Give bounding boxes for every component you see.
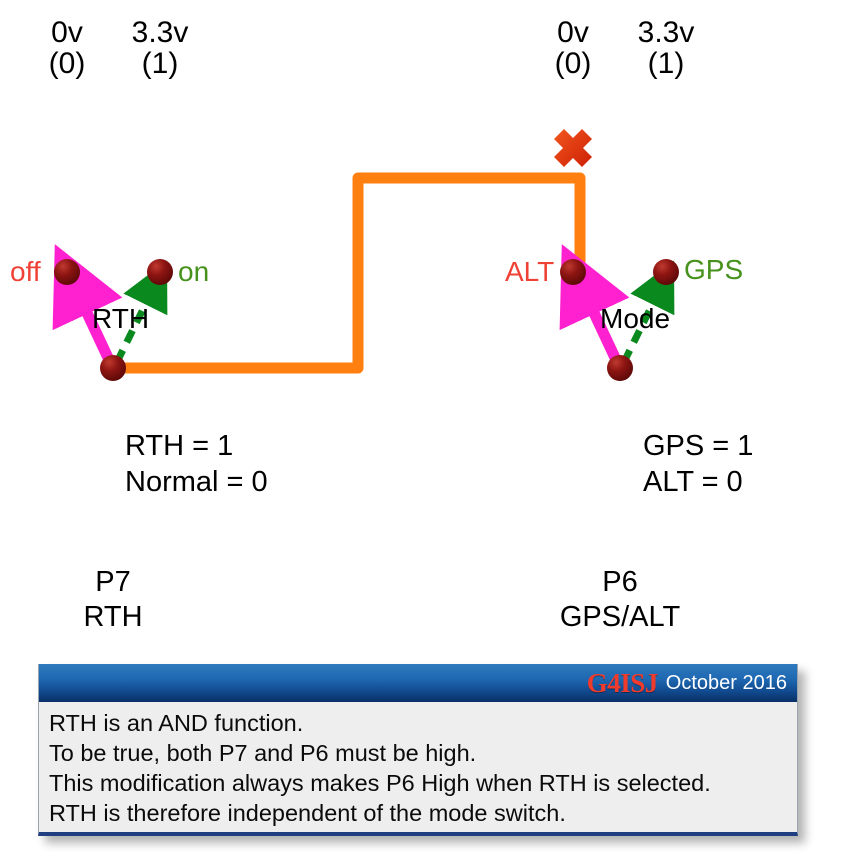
left-off-contact-node[interactable] <box>54 259 80 285</box>
left-on-logic-label: (1) <box>114 47 206 81</box>
left-off-voltage-label: 0v <box>27 16 107 50</box>
right-truth-line-2: ALT = 0 <box>643 466 743 499</box>
caption-body: RTH is an AND function. To be true, both… <box>39 702 797 828</box>
right-gps-contact-node[interactable] <box>653 259 679 285</box>
right-gps-voltage-label: 3.3v <box>620 16 712 50</box>
left-on-voltage-label: 3.3v <box>114 16 206 50</box>
right-common-node[interactable] <box>607 355 633 381</box>
right-alt-contact-node[interactable] <box>560 259 586 285</box>
caption-header-bar: G4ISJ October 2016 <box>39 664 797 702</box>
right-switch-name-label: Mode <box>600 303 670 335</box>
right-pin-function-label: GPS/ALT <box>545 601 695 634</box>
left-truth-line-1: RTH = 1 <box>125 430 233 463</box>
caption-panel: G4ISJ October 2016 RTH is an AND functio… <box>38 664 798 836</box>
left-pin-number-label: P7 <box>63 566 163 599</box>
right-alt-contact-label: ALT <box>505 256 554 288</box>
left-off-logic-label: (0) <box>27 47 107 81</box>
caption-date: October 2016 <box>666 673 787 693</box>
caption-line: RTH is an AND function. <box>49 708 797 738</box>
left-common-node[interactable] <box>100 355 126 381</box>
caption-line: This modification always makes P6 High w… <box>49 768 797 798</box>
right-alt-voltage-label: 0v <box>533 16 613 50</box>
left-switch-name-label: RTH <box>92 303 149 335</box>
left-on-contact-node[interactable] <box>147 259 173 285</box>
left-pin-function-label: RTH <box>63 601 163 634</box>
left-off-contact-label: off <box>10 256 41 288</box>
caption-line: RTH is therefore independent of the mode… <box>49 798 797 828</box>
callsign-logo: G4ISJ <box>587 670 658 697</box>
right-gps-logic-label: (1) <box>620 47 712 81</box>
right-truth-line-1: GPS = 1 <box>643 430 753 463</box>
left-truth-line-2: Normal = 0 <box>125 466 268 499</box>
right-gps-contact-label: GPS <box>684 254 743 286</box>
left-on-contact-label: on <box>178 256 209 288</box>
right-alt-logic-label: (0) <box>533 47 613 81</box>
right-pin-number-label: P6 <box>570 566 670 599</box>
caption-line: To be true, both P7 and P6 must be high. <box>49 738 797 768</box>
